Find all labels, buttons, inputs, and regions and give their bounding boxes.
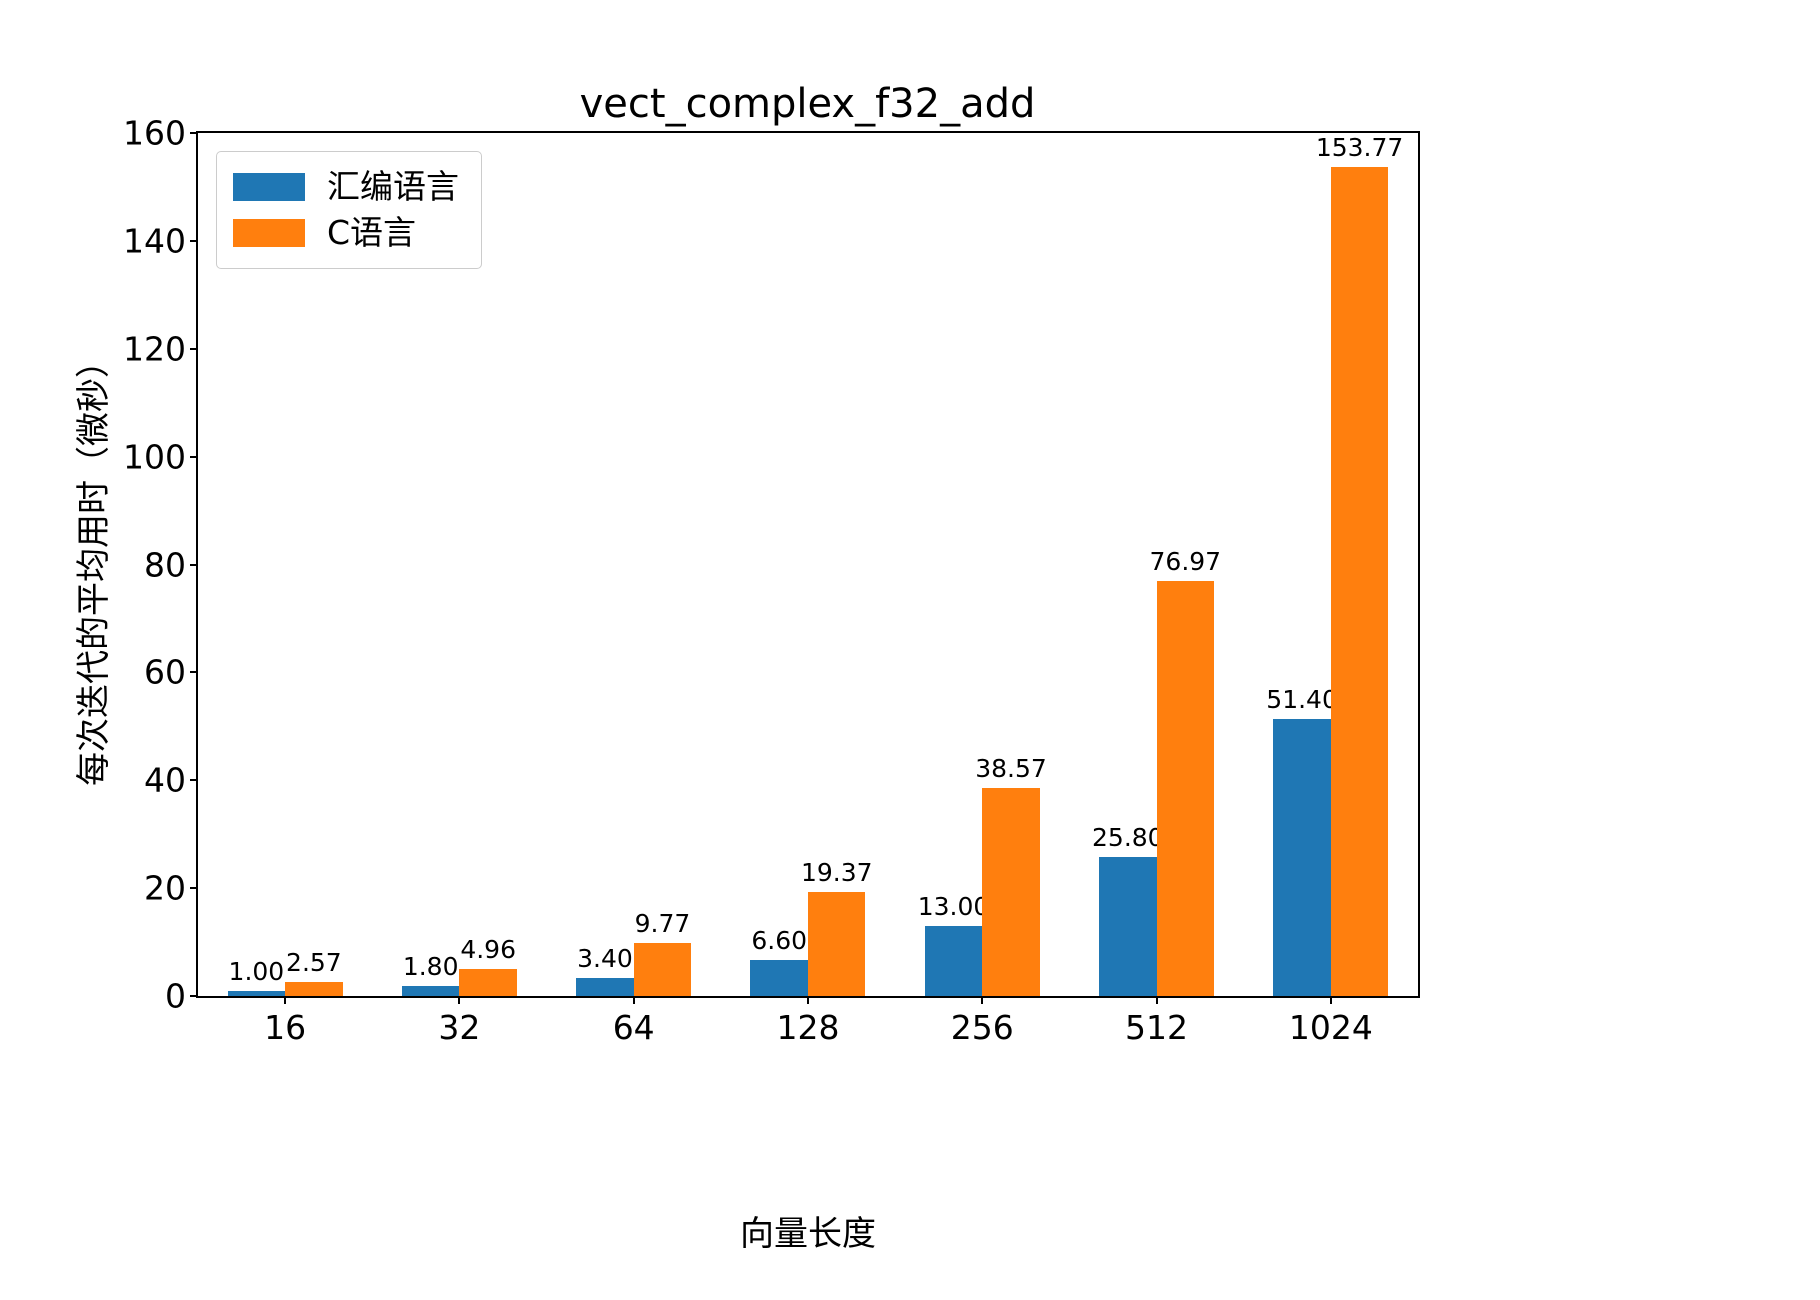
y-tick-mark <box>190 995 198 997</box>
legend: 汇编语言C语言 <box>216 151 482 269</box>
x-tick-mark <box>284 996 286 1004</box>
y-tick-mark <box>190 132 198 134</box>
bar-group: 51.40153.771024 <box>1273 133 1388 996</box>
bar-value-label: 2.57 <box>286 949 342 977</box>
y-tick-label: 100 <box>123 440 186 473</box>
figure-canvas: vect_complex_f32_add 每次迭代的平均用时（微秒） 02040… <box>0 0 1820 1300</box>
bar-value-label: 1.80 <box>403 953 459 981</box>
bar-value-label: 6.60 <box>751 927 807 955</box>
y-tick-label: 40 <box>144 764 186 797</box>
bar-value-label: 13.00 <box>918 893 990 921</box>
bar-asm-128[interactable]: 6.60 <box>750 960 808 996</box>
y-tick-label: 120 <box>123 332 186 365</box>
bar-group: 3.409.7764 <box>576 133 691 996</box>
x-tick-label-1024: 1024 <box>1289 1010 1373 1046</box>
bar-asm-1024[interactable]: 51.40 <box>1273 719 1331 996</box>
x-axis-label: 向量长度 <box>196 1213 1420 1255</box>
y-tick-mark <box>190 240 198 242</box>
bar-value-label: 3.40 <box>577 945 633 973</box>
y-tick-label: 160 <box>123 117 186 150</box>
bar-c-128[interactable]: 19.37 <box>808 892 866 996</box>
x-tick-label-512: 512 <box>1125 1010 1188 1046</box>
bar-value-label: 153.77 <box>1316 134 1403 162</box>
bar-c-512[interactable]: 76.97 <box>1157 581 1215 996</box>
bar-c-16[interactable]: 2.57 <box>285 982 343 996</box>
legend-swatch-icon <box>233 219 305 247</box>
y-axis-label-text: 每次迭代的平均用时（微秒） <box>74 344 114 786</box>
x-tick-mark <box>1156 996 1158 1004</box>
legend-label: 汇编语言 <box>327 169 459 205</box>
y-tick-label: 60 <box>144 656 186 689</box>
x-tick-mark <box>981 996 983 1004</box>
bar-value-label: 38.57 <box>975 755 1047 783</box>
x-tick-mark <box>458 996 460 1004</box>
bar-asm-32[interactable]: 1.80 <box>402 986 460 996</box>
bar-c-64[interactable]: 9.77 <box>634 943 692 996</box>
bar-group: 25.8076.97512 <box>1099 133 1214 996</box>
bar-value-label: 19.37 <box>801 859 873 887</box>
bar-c-32[interactable]: 4.96 <box>459 969 517 996</box>
bar-asm-256[interactable]: 13.00 <box>925 926 983 996</box>
x-tick-label-16: 16 <box>264 1010 306 1046</box>
y-tick-label: 80 <box>144 548 186 581</box>
bar-asm-16[interactable]: 1.00 <box>228 991 286 996</box>
x-tick-label-256: 256 <box>951 1010 1014 1046</box>
bar-c-1024[interactable]: 153.77 <box>1331 167 1389 996</box>
bar-value-label: 25.80 <box>1092 824 1164 852</box>
bar-asm-64[interactable]: 3.40 <box>576 978 634 996</box>
bar-c-256[interactable]: 38.57 <box>982 788 1040 996</box>
y-axis-label: 每次迭代的平均用时（微秒） <box>72 131 116 998</box>
y-tick-label: 0 <box>165 980 186 1013</box>
y-tick-mark <box>190 779 198 781</box>
y-tick-mark <box>190 887 198 889</box>
y-tick-mark <box>190 348 198 350</box>
bar-value-label: 76.97 <box>1150 548 1222 576</box>
legend-swatch-icon <box>233 173 305 201</box>
legend-entry-1[interactable]: 汇编语言 <box>233 164 459 210</box>
chart-title: vect_complex_f32_add <box>195 80 1420 128</box>
bar-value-label: 51.40 <box>1266 686 1338 714</box>
y-tick-label: 140 <box>123 224 186 257</box>
y-tick-label: 20 <box>144 872 186 905</box>
bar-group: 6.6019.37128 <box>750 133 865 996</box>
x-tick-mark <box>633 996 635 1004</box>
bar-value-label: 1.00 <box>229 958 285 986</box>
bar-asm-512[interactable]: 25.80 <box>1099 857 1157 996</box>
x-tick-mark <box>1330 996 1332 1004</box>
x-tick-label-128: 128 <box>776 1010 839 1046</box>
y-tick-mark <box>190 564 198 566</box>
x-tick-label-32: 32 <box>438 1010 480 1046</box>
legend-entry-2[interactable]: C语言 <box>233 210 459 256</box>
y-tick-mark <box>190 456 198 458</box>
y-tick-mark <box>190 671 198 673</box>
x-tick-label-64: 64 <box>613 1010 655 1046</box>
x-tick-mark <box>807 996 809 1004</box>
bar-group: 13.0038.57256 <box>925 133 1040 996</box>
legend-label: C语言 <box>327 215 416 251</box>
bar-value-label: 9.77 <box>635 910 691 938</box>
bar-value-label: 4.96 <box>460 936 516 964</box>
